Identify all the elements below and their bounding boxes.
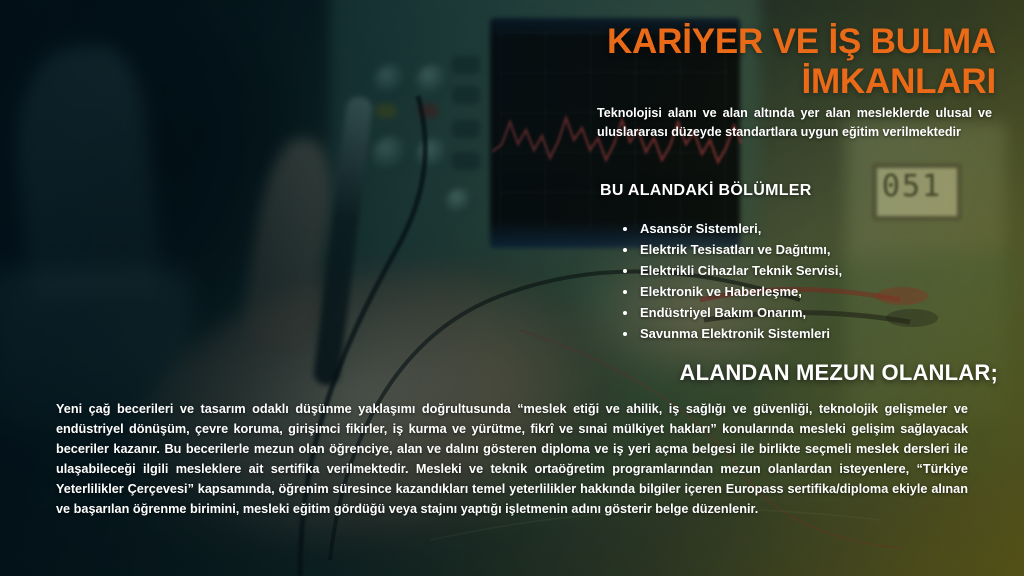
list-item: Asansör Sistemleri,: [638, 218, 842, 239]
graduates-heading: ALANDAN MEZUN OLANLAR;: [680, 360, 998, 386]
intro-paragraph: Teknolojisi alanı ve alan altında yer al…: [597, 104, 992, 142]
body-paragraph: Yeni çağ becerileri ve tasarım odaklı dü…: [56, 400, 968, 520]
list-item: Elektrik Tesisatları ve Dağıtımı,: [638, 239, 842, 260]
slide-content: KARİYER VE İŞ BULMA İMKANLARI Teknolojis…: [0, 0, 1024, 576]
departments-heading: BU ALANDAKİ BÖLÜMLER: [600, 182, 812, 200]
slide-title: KARİYER VE İŞ BULMA İMKANLARI: [356, 22, 996, 102]
list-item: Savunma Elektronik Sistemleri: [638, 323, 842, 344]
departments-list: Asansör Sistemleri, Elektrik Tesisatları…: [612, 218, 842, 344]
slide-title-line-1: KARİYER VE İŞ BULMA: [607, 22, 996, 61]
list-item: Endüstriyel Bakım Onarım,: [638, 302, 842, 323]
slide-title-line-2: İMKANLARI: [356, 62, 996, 102]
presentation-slide: 051 KARİYER VE İŞ BULMA İMKANLARI Teknol…: [0, 0, 1024, 576]
list-item: Elektronik ve Haberleşme,: [638, 281, 842, 302]
list-item: Elektrikli Cihazlar Teknik Servisi,: [638, 260, 842, 281]
